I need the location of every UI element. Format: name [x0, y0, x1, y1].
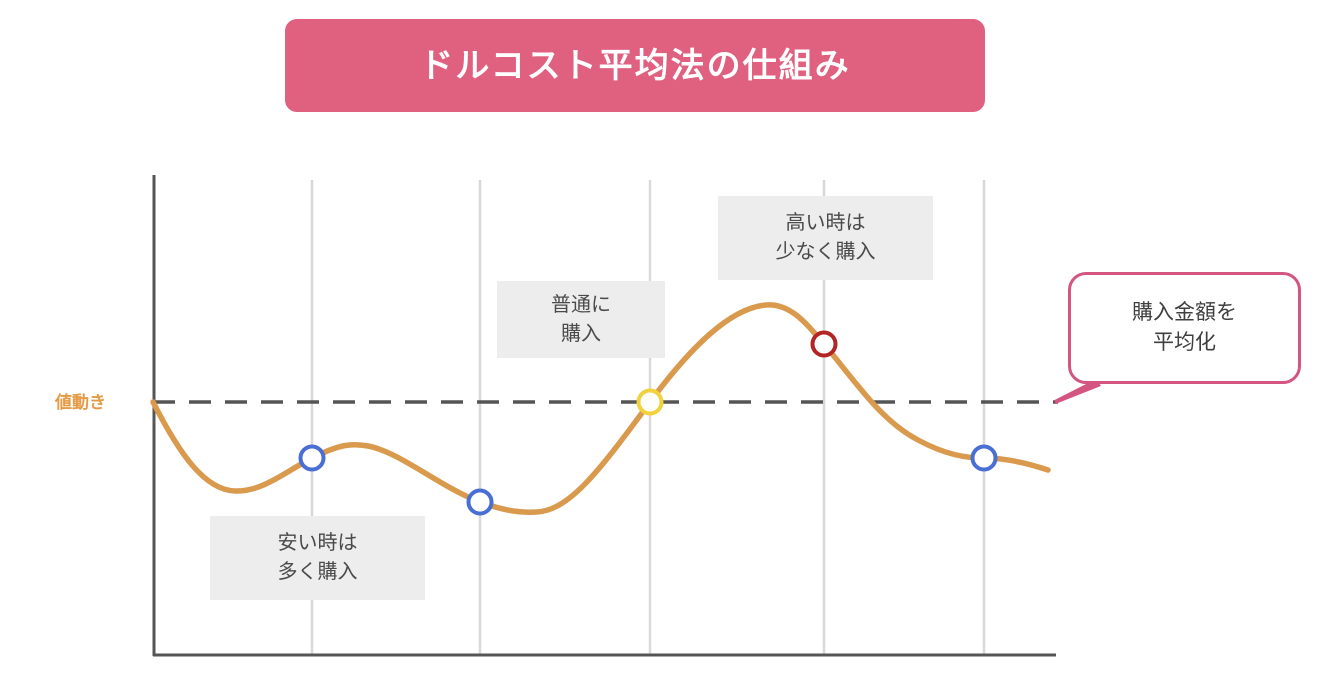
note-box-buy-less: 高い時は 少なく購入 — [718, 196, 933, 280]
note-line: 普通に — [551, 291, 611, 320]
note-line: 少なく購入 — [776, 238, 876, 267]
marker-buy-more-2[interactable] — [469, 491, 492, 514]
marker-buy-less[interactable] — [813, 333, 836, 356]
marker-buy-normal[interactable] — [639, 391, 662, 414]
marker-buy-more-3[interactable] — [973, 447, 996, 470]
callout-averaging: 購入金額を 平均化 — [1068, 272, 1301, 384]
callout-line: 購入金額を — [1132, 298, 1237, 328]
note-line: 安い時は — [278, 529, 358, 558]
note-line: 高い時は — [786, 209, 866, 238]
note-box-buy-more: 安い時は 多く購入 — [210, 516, 425, 600]
marker-buy-more-1[interactable] — [301, 447, 324, 470]
diagram-canvas: ドルコスト平均法の仕組み 値動き 安い時は 多く購入 普通に — [0, 0, 1320, 678]
callout-line: 平均化 — [1153, 328, 1216, 358]
note-line: 購入 — [561, 320, 601, 349]
note-line: 多く購入 — [278, 558, 358, 587]
note-box-buy-normal: 普通に 購入 — [497, 281, 665, 358]
